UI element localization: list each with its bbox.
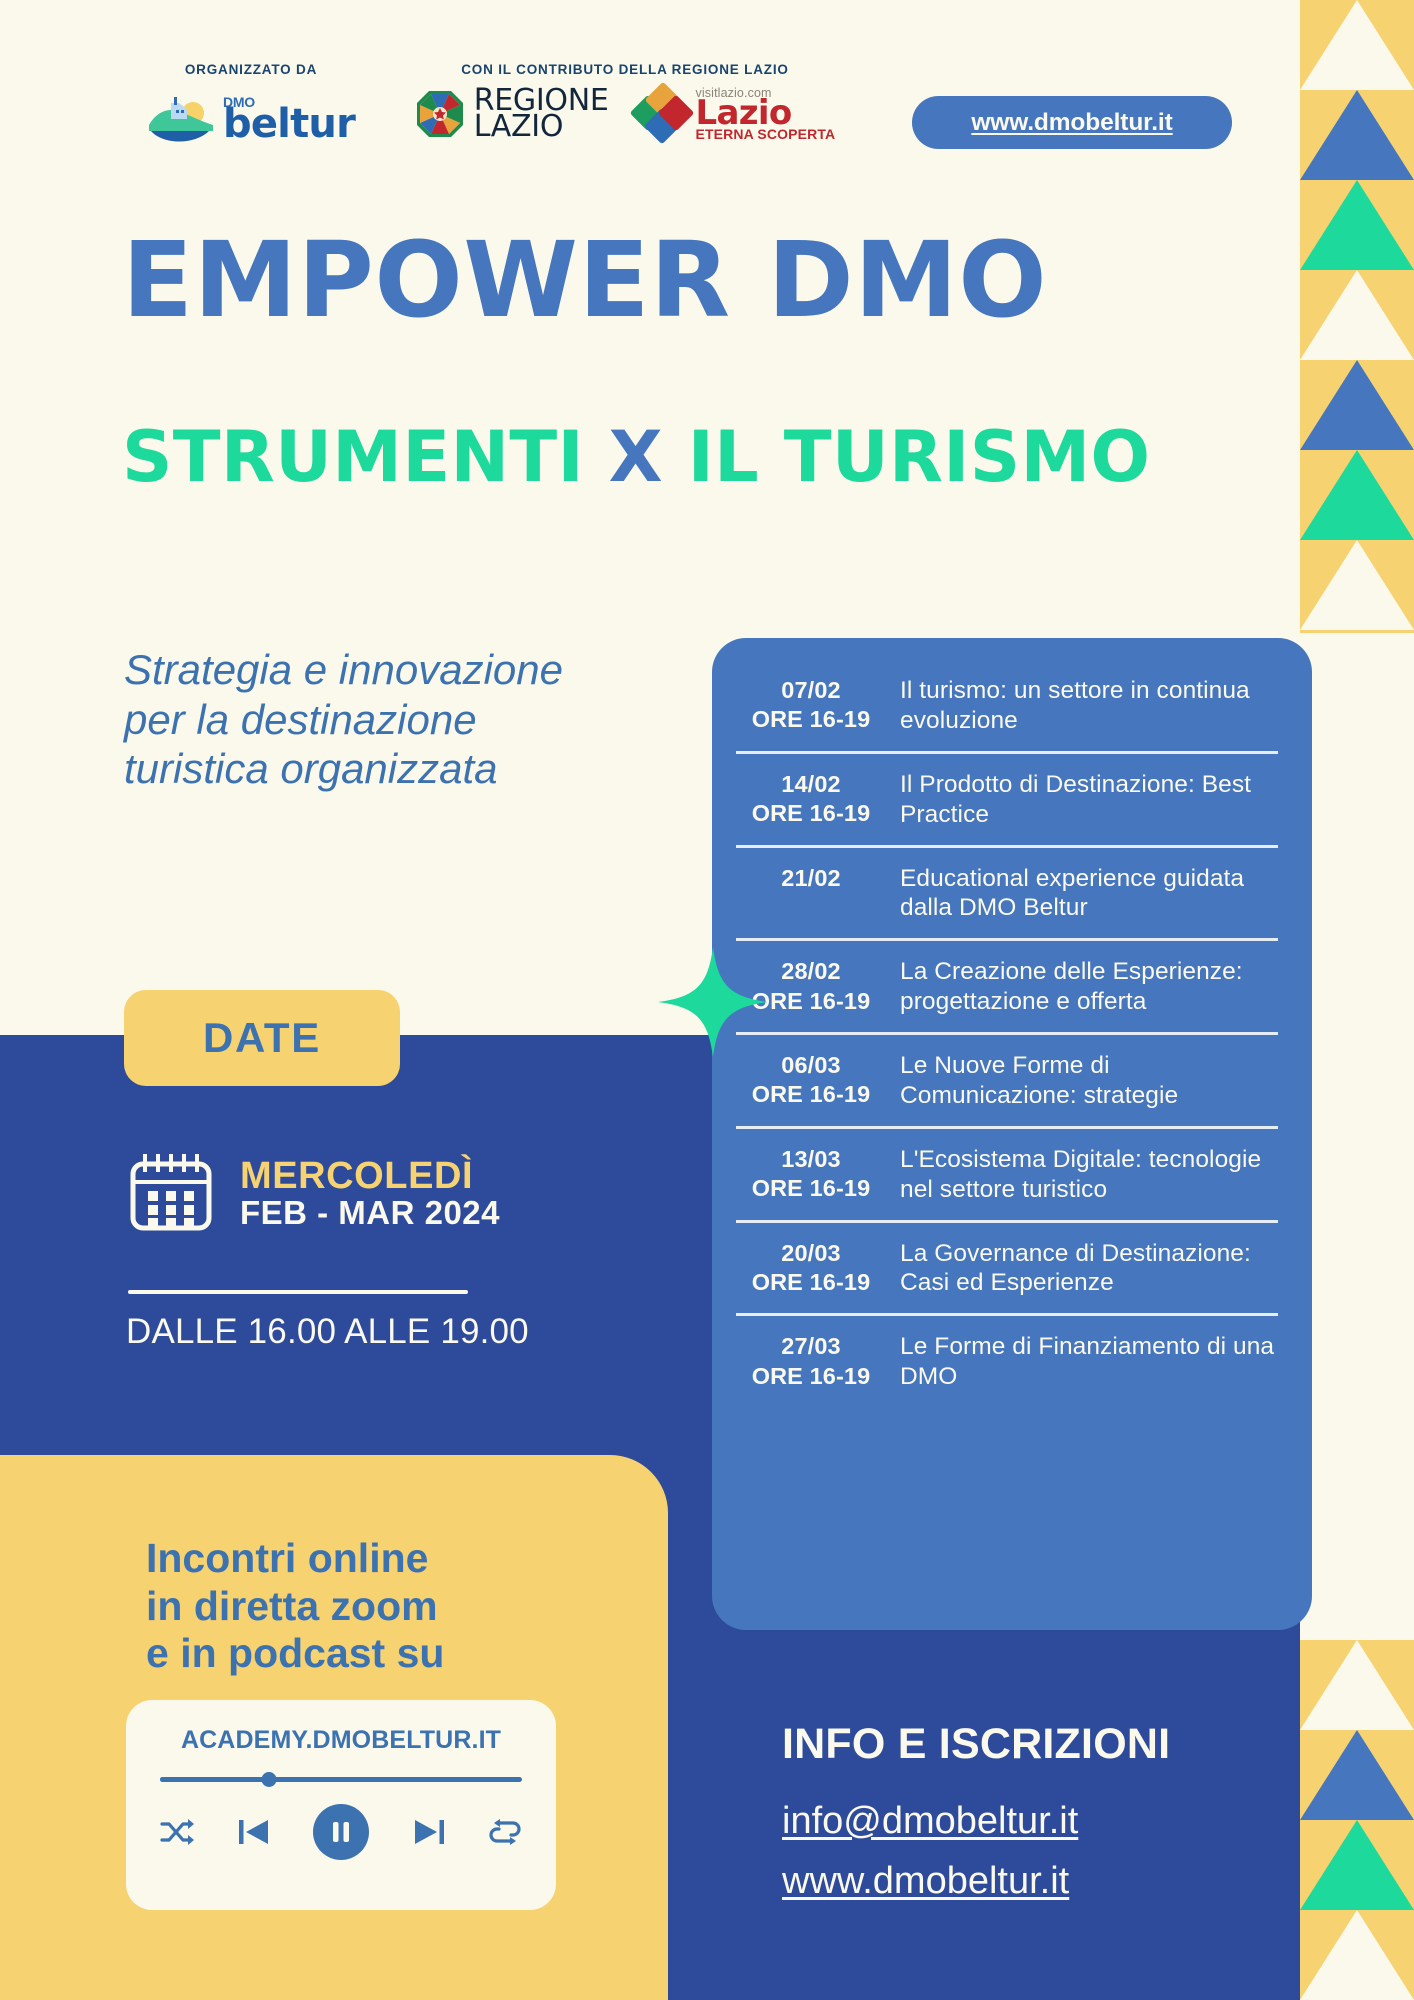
visitlazio-diamonds-icon — [635, 87, 689, 141]
schedule-row: 07/02ORE 16-19Il turismo: un settore in … — [736, 660, 1278, 751]
lead-paragraph: Strategia e innovazione per la destinazi… — [124, 645, 574, 794]
schedule-row: 27/03ORE 16-19Le Forme di Finanziamento … — [736, 1313, 1278, 1407]
organizer-logo-block: ORGANIZZATO DA DMO beltur — [126, 62, 376, 147]
schedule-row-title: Educational experience guidata dalla DMO… — [886, 864, 1278, 924]
beltur-name-label: beltur — [223, 108, 355, 141]
organizer-caption: ORGANIZZATO DA — [126, 62, 376, 77]
schedule-row-title: La Creazione delle Esperienze: progettaz… — [886, 957, 1278, 1017]
schedule-row-date: 13/03ORE 16-19 — [736, 1145, 886, 1204]
date-badge-label: DATE — [203, 1014, 321, 1062]
triangle-band-bottom — [1300, 1640, 1414, 2000]
divider-rule — [128, 1290, 468, 1294]
contributor-caption: CON IL CONTRIBUTO DELLA REGIONE LAZIO — [410, 62, 840, 77]
next-track-icon[interactable] — [412, 1817, 446, 1847]
pause-icon[interactable] — [313, 1804, 369, 1860]
beltur-wordmark: DMO beltur — [223, 97, 355, 141]
poster-header: ORGANIZZATO DA DMO beltur CON IL CON — [0, 0, 1310, 180]
decor-triangle — [1300, 1730, 1414, 1820]
calendar-row: MERCOLEDÌ FEB - MAR 2024 — [128, 1150, 500, 1236]
right-decor-strip — [1300, 0, 1414, 2000]
info-website-link[interactable]: www.dmobeltur.it — [782, 1860, 1069, 1903]
schedule-row-date: 14/02ORE 16-19 — [736, 770, 886, 829]
schedule-row: 14/02ORE 16-19Il Prodotto di Destinazion… — [736, 751, 1278, 845]
visitlazio-tagline: ETERNA SCOPERTA — [696, 127, 836, 141]
decor-triangle — [1300, 1640, 1414, 1730]
repeat-icon[interactable] — [488, 1818, 522, 1846]
schedule-row-title: Le Nuove Forme di Comunicazione: strateg… — [886, 1051, 1278, 1111]
months-label: FEB - MAR 2024 — [240, 1196, 500, 1230]
schedule-row-date: 07/02ORE 16-19 — [736, 676, 886, 735]
schedule-row-title: Il turismo: un settore in continua evolu… — [886, 676, 1278, 736]
weekday-label: MERCOLEDÌ — [240, 1157, 500, 1196]
info-email-link[interactable]: info@dmobeltur.it — [782, 1800, 1078, 1843]
website-pill-button[interactable]: www.dmobeltur.it — [912, 96, 1232, 149]
decor-triangle — [1300, 1910, 1414, 2000]
regione-lazio-logo: REGIONE LAZIO — [415, 88, 609, 141]
player-progress-slider[interactable] — [160, 1777, 522, 1782]
schedule-panel: 07/02ORE 16-19Il turismo: un settore in … — [712, 638, 1312, 1630]
subtitle-x: X — [609, 416, 663, 498]
player-url-label: ACADEMY.DMOBELTUR.IT — [126, 1726, 556, 1755]
player-progress-knob[interactable] — [261, 1772, 276, 1787]
visitlazio-wordmark: visitlazio.com Lazio ETERNA SCOPERTA — [696, 87, 836, 141]
previous-track-icon[interactable] — [237, 1817, 271, 1847]
poster-canvas: ORGANIZZATO DA DMO beltur CON IL CON — [0, 0, 1414, 2000]
hours-label: DALLE 16.00 ALLE 19.00 — [126, 1312, 529, 1352]
schedule-row: 13/03ORE 16-19L'Ecosistema Digitale: tec… — [736, 1126, 1278, 1220]
player-progress-fill — [160, 1777, 269, 1782]
online-heading: Incontri onlinein diretta zoome in podca… — [146, 1535, 444, 1678]
player-controls — [160, 1804, 522, 1860]
schedule-row-title: La Governance di Destinazione: Casi ed E… — [886, 1239, 1278, 1299]
decor-triangle — [1300, 1820, 1414, 1910]
shuffle-icon[interactable] — [160, 1819, 194, 1845]
schedule-rows: 07/02ORE 16-19Il turismo: un settore in … — [712, 638, 1312, 1425]
subtitle-part1: STRUMENTI — [122, 416, 609, 498]
regione-line2: LAZIO — [474, 114, 609, 140]
podcast-player-card: ACADEMY.DMOBELTUR.IT — [126, 1700, 556, 1910]
decor-triangle — [1300, 0, 1414, 90]
contributor-logo-block: CON IL CONTRIBUTO DELLA REGIONE LAZIO — [410, 62, 840, 141]
regione-lazio-wordmark: REGIONE LAZIO — [474, 88, 609, 141]
beltur-boat-logo-icon — [147, 91, 215, 147]
schedule-row: 28/02ORE 16-19La Creazione delle Esperie… — [736, 938, 1278, 1032]
contributor-logos: REGIONE LAZIO visitlazio.com Lazio ET — [410, 87, 840, 141]
triangle-band-top — [1300, 0, 1414, 633]
visitlazio-logo: visitlazio.com Lazio ETERNA SCOPERTA — [635, 87, 836, 141]
schedule-row-date: 21/02 — [736, 864, 886, 893]
page-subtitle: STRUMENTI X IL TURISMO — [122, 422, 1150, 492]
schedule-row-date: 20/03ORE 16-19 — [736, 1239, 886, 1298]
date-badge: DATE — [124, 990, 400, 1086]
visitlazio-name: Lazio — [696, 100, 836, 128]
schedule-row-date: 27/03ORE 16-19 — [736, 1332, 886, 1391]
info-heading: INFO E ISCRIZIONI — [782, 1720, 1170, 1769]
schedule-row-title: Le Forme di Finanziamento di una DMO — [886, 1332, 1278, 1392]
regione-lazio-crest-icon — [415, 89, 465, 139]
schedule-row-title: Il Prodotto di Destinazione: Best Practi… — [886, 770, 1278, 830]
schedule-row: 21/02Educational experience guidata dall… — [736, 845, 1278, 939]
decor-triangle — [1300, 450, 1414, 540]
decor-triangle — [1300, 90, 1414, 180]
website-pill-label: www.dmobeltur.it — [971, 109, 1172, 137]
four-point-star-icon — [654, 943, 772, 1061]
calendar-icon — [128, 1150, 214, 1236]
decor-triangle — [1300, 270, 1414, 360]
decor-triangle — [1300, 180, 1414, 270]
beltur-logo: DMO beltur — [126, 91, 376, 147]
calendar-text: MERCOLEDÌ FEB - MAR 2024 — [240, 1157, 500, 1229]
schedule-row: 20/03ORE 16-19La Governance di Destinazi… — [736, 1220, 1278, 1314]
page-title: EMPOWER DMO — [122, 228, 1047, 332]
schedule-row: 06/03ORE 16-19Le Nuove Forme di Comunica… — [736, 1032, 1278, 1126]
decor-triangle — [1300, 540, 1414, 630]
subtitle-part2: IL TURISMO — [663, 416, 1150, 498]
schedule-row-title: L'Ecosistema Digitale: tecnologie nel se… — [886, 1145, 1278, 1205]
decor-triangle — [1300, 360, 1414, 450]
